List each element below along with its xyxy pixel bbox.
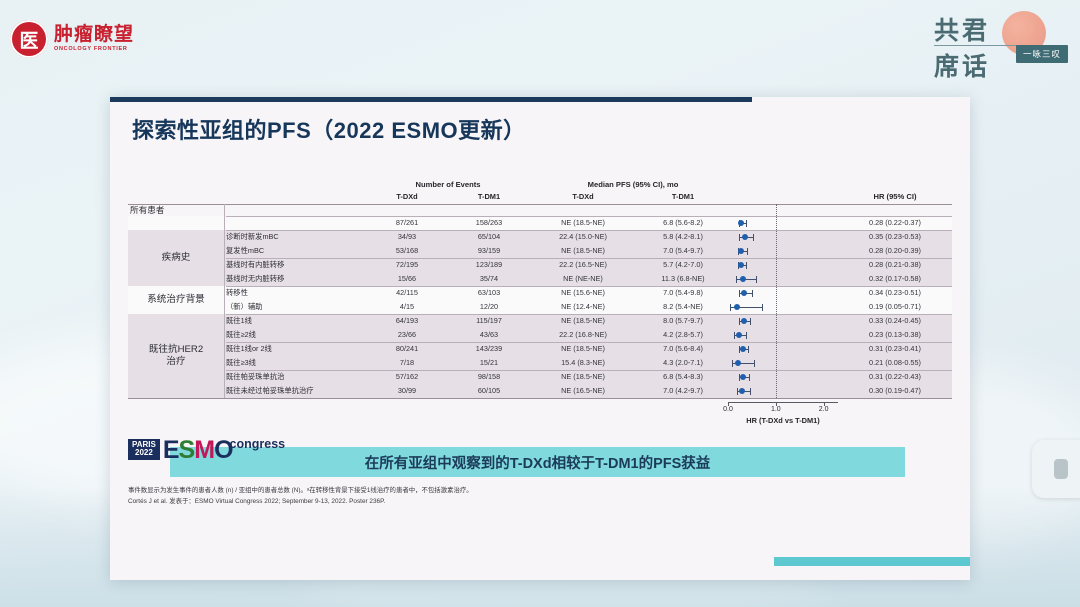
deco-line-2: 席话 <box>934 47 990 83</box>
table-row-rule <box>226 216 952 217</box>
slide-top-accent-bar <box>110 97 752 102</box>
forest-ci-cap <box>739 290 740 297</box>
deco-line-1: 共君 <box>934 11 990 47</box>
forest-axis-tick-label: 0.0 <box>716 406 740 413</box>
forest-marker <box>128 272 952 286</box>
forest-point-estimate <box>738 262 744 268</box>
table-left-divider <box>224 204 225 398</box>
brand-logo: 医 肿瘤瞭望 ONCOLOGY FRONTIER <box>10 20 134 58</box>
forest-ci-cap <box>748 346 749 353</box>
esmo-congress-word: congress <box>230 437 286 451</box>
forest-point-estimate <box>735 360 741 366</box>
decorative-header: 共君 席话 一咏三叹 <box>932 5 1068 83</box>
forest-point-estimate <box>741 318 747 324</box>
forest-ci-cap <box>747 248 748 255</box>
forest-marker <box>128 300 952 314</box>
brand-text: 肿瘤瞭望 ONCOLOGY FRONTIER <box>54 25 134 53</box>
forest-point-estimate <box>740 374 746 380</box>
table-subheader-pfs-tdxd: T-DXd <box>540 192 626 201</box>
forest-point-estimate <box>740 276 746 282</box>
slide-card: 探索性亚组的PFS（2022 ESMO更新） Number of EventsM… <box>110 97 970 580</box>
forest-ci-cap <box>753 234 754 241</box>
forest-axis-tick-label: 2.0 <box>812 406 836 413</box>
conclusion-text: 在所有亚组中观察到的T-DXd相较于T-DM1的PFS获益 <box>365 452 711 473</box>
forest-reference-line <box>776 204 777 398</box>
table-row-rule <box>226 314 952 315</box>
group-label-box: 既往抗HER2 治疗 <box>128 314 224 398</box>
group-label: 疾病史 <box>128 230 224 286</box>
page-title: 探索性亚组的PFS（2022 ESMO更新） <box>132 113 526 145</box>
forest-ci-cap <box>746 262 747 269</box>
corner-widget-glyph <box>1054 459 1068 479</box>
group-label-box: 疾病史 <box>128 230 224 286</box>
forest-ci-cap <box>746 332 747 339</box>
forest-marker <box>128 328 952 342</box>
forest-point-estimate <box>741 290 747 296</box>
footer-accent-bar <box>774 557 970 566</box>
forest-point-estimate <box>739 388 745 394</box>
table-header-group-pfs: Median PFS (95% CI), mo <box>540 180 726 189</box>
brand-name-en: ONCOLOGY FRONTIER <box>54 47 134 53</box>
forest-ci-cap <box>750 388 751 395</box>
brand-name-cn: 肿瘤瞭望 <box>54 25 134 44</box>
table-subheader-events-tdxd: T-DXd <box>376 192 438 201</box>
forest-point-estimate <box>742 234 748 240</box>
table-header-group-events: Number of Events <box>376 180 520 189</box>
forest-marker <box>128 216 952 230</box>
forest-marker <box>128 230 952 244</box>
forest-marker <box>128 258 952 272</box>
forest-axis-line <box>728 402 838 403</box>
forest-ci-cap <box>750 318 751 325</box>
forest-ci-cap <box>737 388 738 395</box>
table-header-rule <box>128 204 952 205</box>
table-header-group-hr: HR (95% CI) <box>838 192 952 201</box>
forest-marker <box>128 244 952 258</box>
forest-ci-cap <box>736 276 737 283</box>
footnote-1: 事件数显示为发生事件的患者人数 (n) / 亚组中的患者总数 (N)。ᵃ在转移性… <box>128 486 473 496</box>
forest-ci-cap <box>730 304 731 311</box>
forest-point-estimate <box>740 346 746 352</box>
table-subheader-pfs-tdm1: T-DM1 <box>640 192 726 201</box>
forest-marker <box>128 384 952 398</box>
forest-axis-tick-label: 1.0 <box>764 406 788 413</box>
esmo-paris-line2: 2022 <box>132 449 156 458</box>
brand-seal-glyph: 医 <box>19 26 38 53</box>
esmo-paris-badge: PARIS 2022 <box>128 439 160 460</box>
table-row-rule <box>226 286 952 287</box>
esmo-congress-logo: PARIS 2022 ESMO congress <box>128 437 285 460</box>
table-row-rule <box>226 230 952 231</box>
forest-ci-cap <box>746 220 747 227</box>
forest-ci-cap <box>732 360 733 367</box>
table-row-rule <box>226 258 952 259</box>
group-label: 系统治疗背景 <box>128 286 224 314</box>
esmo-letter-m: M <box>194 436 214 464</box>
deco-badge: 一咏三叹 <box>1016 45 1068 63</box>
corner-widget <box>1032 440 1080 498</box>
forest-marker <box>128 356 952 370</box>
forest-marker <box>128 342 952 356</box>
forest-axis-title: HR (T-DXd vs T-DM1) <box>716 416 850 425</box>
esmo-letter-s: S <box>179 436 195 464</box>
forest-point-estimate <box>734 304 740 310</box>
forest-ci-cap <box>756 276 757 283</box>
forest-ci-cap <box>754 360 755 367</box>
forest-point-estimate <box>736 332 742 338</box>
esmo-letter-e: E <box>163 436 179 464</box>
row-label-all-patients: 所有患者 <box>130 204 164 216</box>
forest-marker <box>128 286 952 300</box>
group-label-box: 系统治疗背景 <box>128 286 224 314</box>
brand-seal-icon: 医 <box>10 20 48 58</box>
deco-divider <box>934 45 1020 46</box>
forest-point-estimate <box>738 248 744 254</box>
table-bottom-rule <box>128 398 952 399</box>
group-label: 既往抗HER2 治疗 <box>128 314 224 398</box>
table-row-rule <box>226 370 952 371</box>
table-row-rule <box>226 342 952 343</box>
esmo-wordmark: ESMO <box>163 440 233 461</box>
footnote-2: Cortés J et al. 发表于：ESMO Virtual Congres… <box>128 497 385 507</box>
forest-marker <box>128 314 952 328</box>
forest-ci-cap <box>749 374 750 381</box>
forest-point-estimate <box>738 220 744 226</box>
table-subheader-events-tdm1: T-DM1 <box>458 192 520 201</box>
forest-ci-cap <box>762 304 763 311</box>
forest-ci-cap <box>739 234 740 241</box>
forest-ci-cap <box>752 290 753 297</box>
forest-marker <box>128 370 952 384</box>
